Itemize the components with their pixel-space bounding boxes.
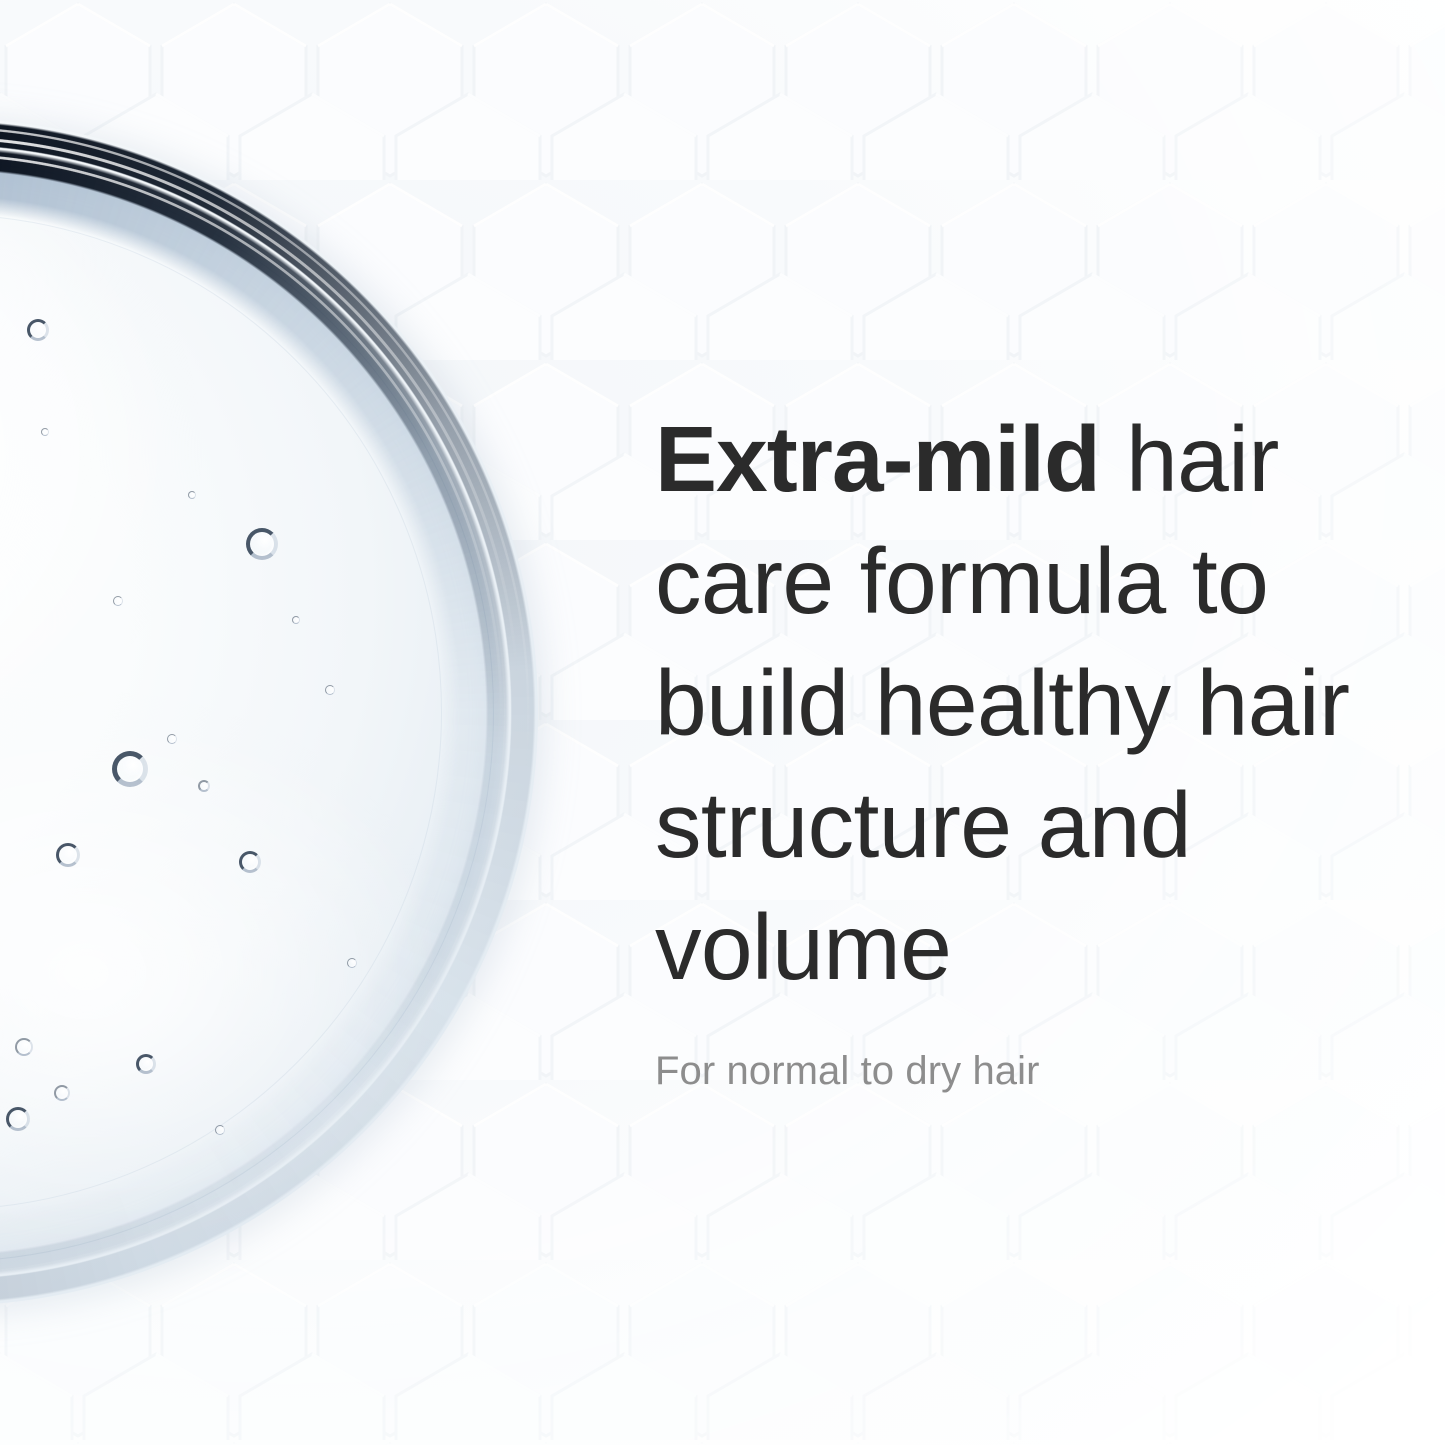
headline-emphasis: Extra-mild [655, 407, 1100, 511]
product-feature-card: Extra-mild hair care formula to build he… [0, 0, 1445, 1445]
subtitle: For normal to dry hair [655, 1045, 1040, 1097]
headline: Extra-mild hair care formula to build he… [655, 398, 1355, 1008]
copy-block: Extra-mild hair care formula to build he… [655, 398, 1355, 1008]
